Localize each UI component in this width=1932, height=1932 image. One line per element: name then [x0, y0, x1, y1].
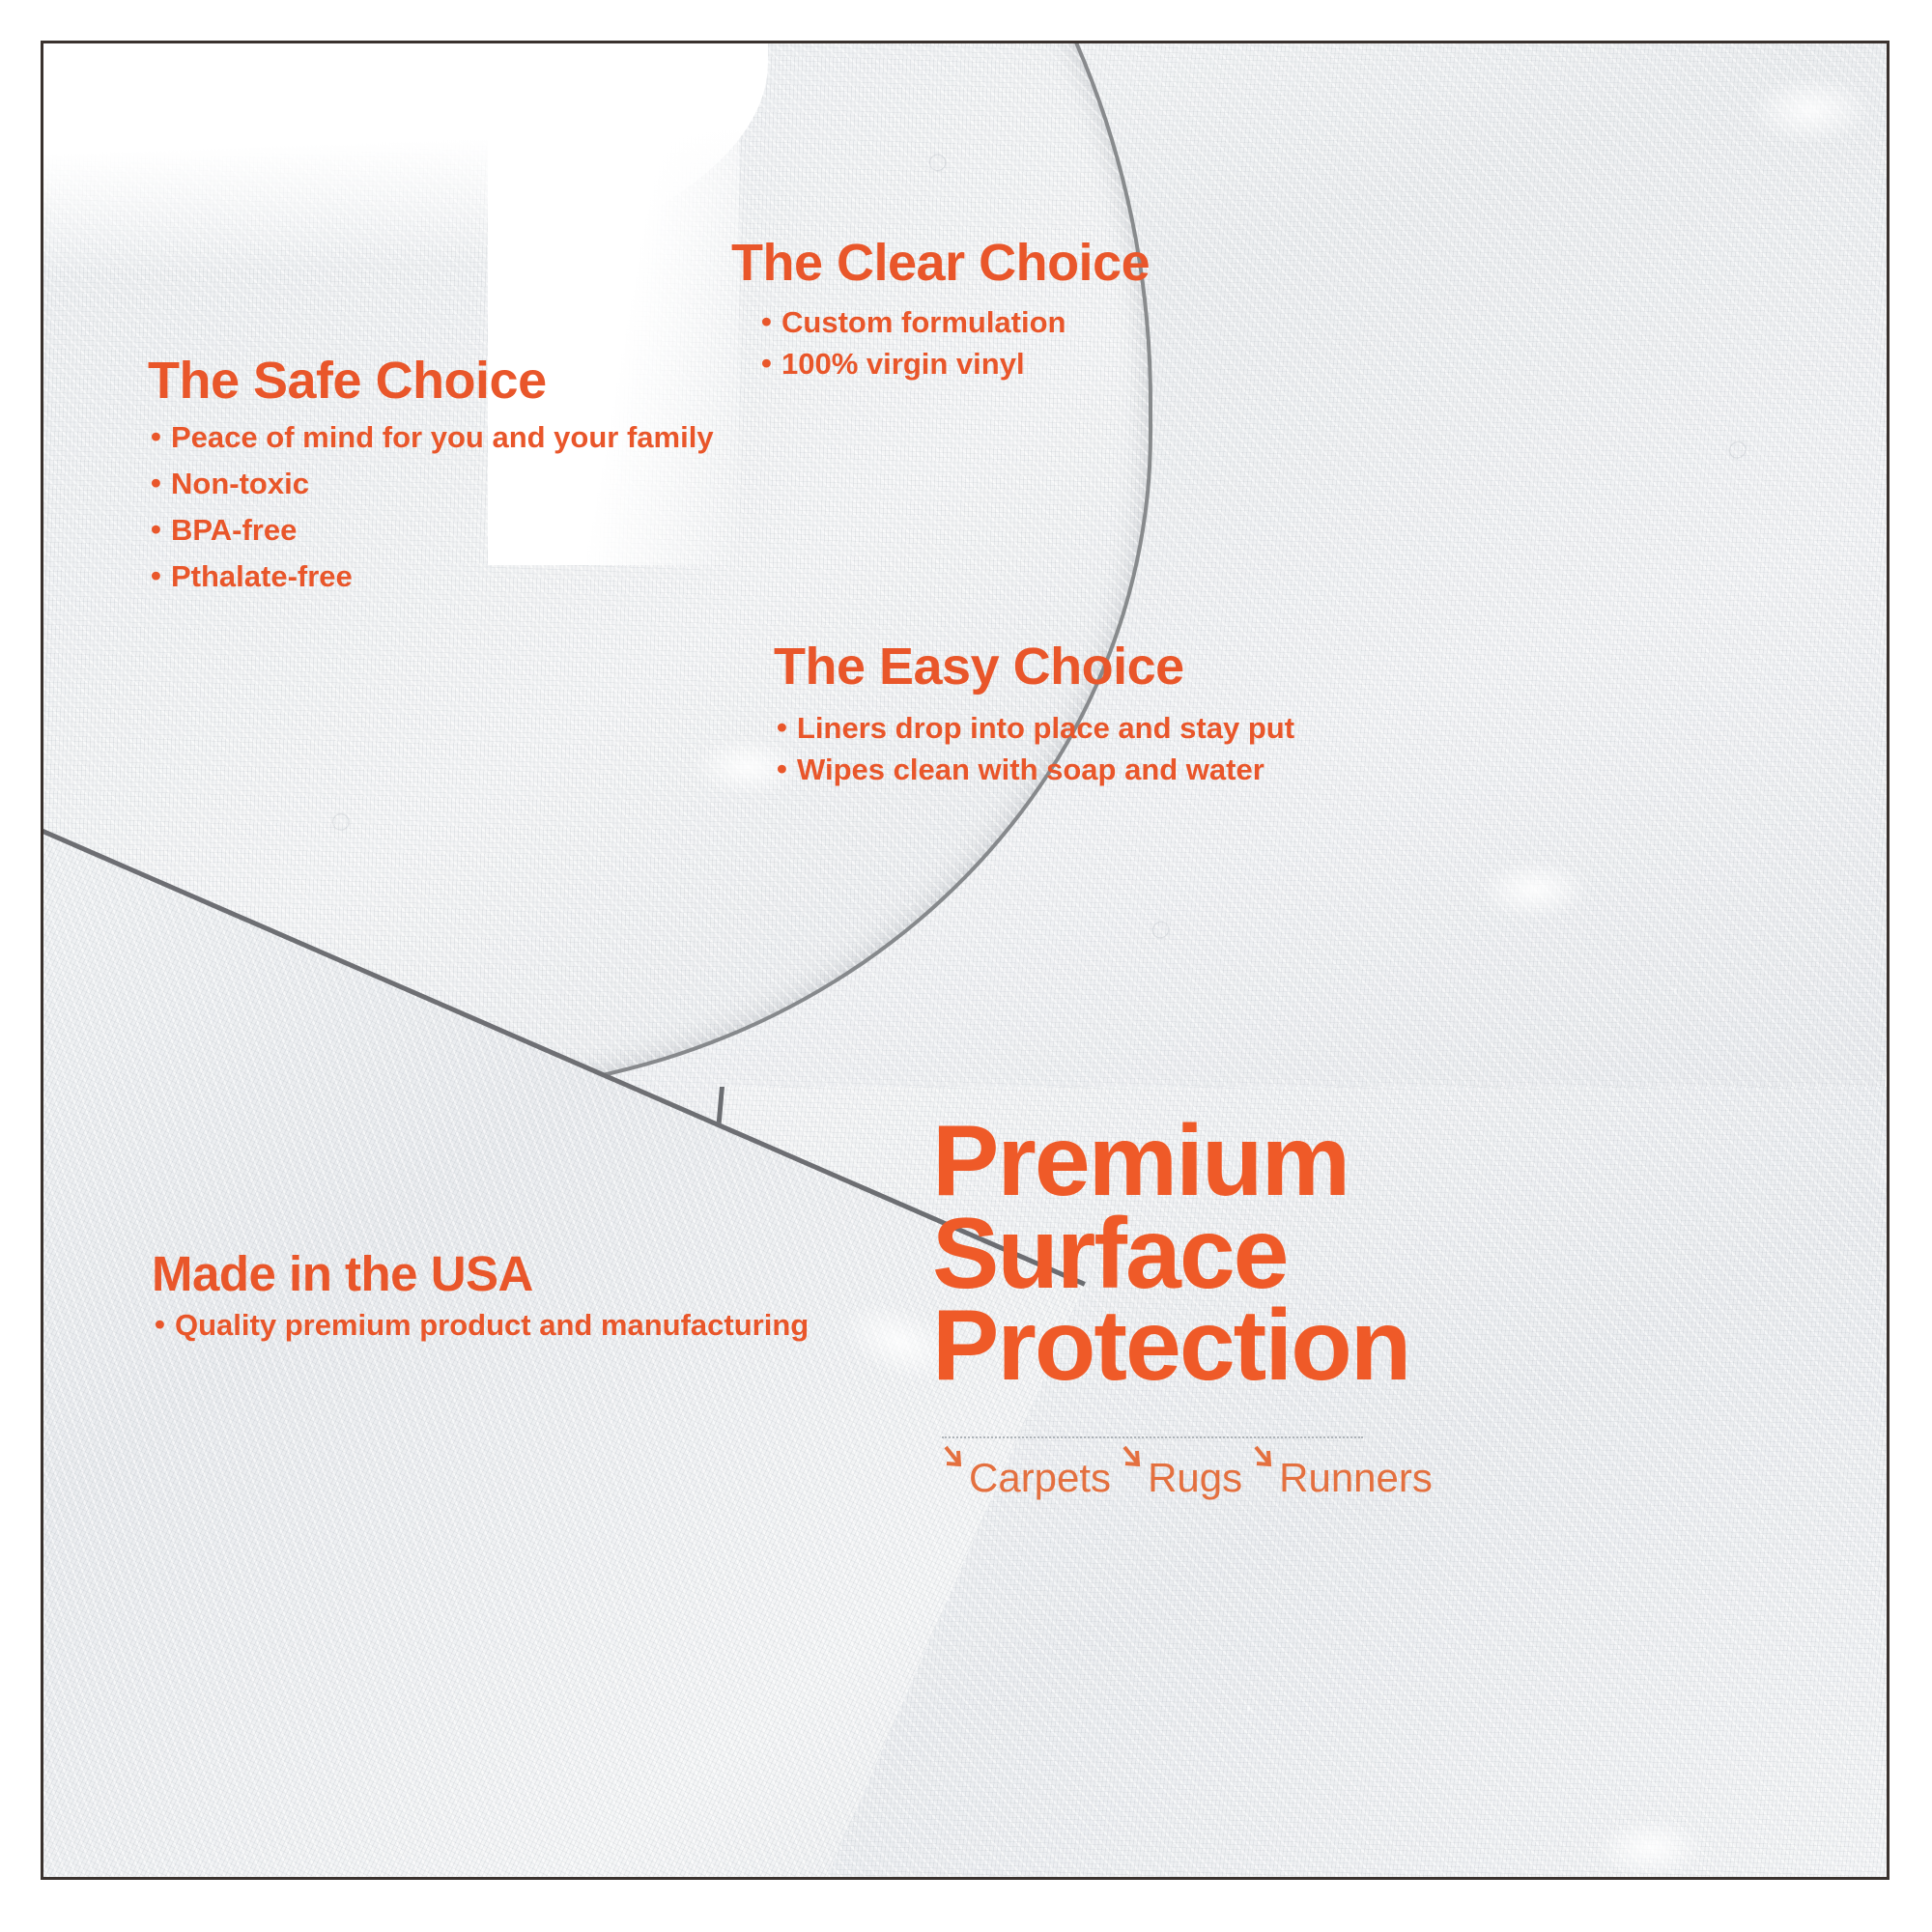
section-heading-made-in-usa: Made in the USA: [152, 1249, 809, 1299]
section-safe-choice: The Safe Choice Peace of mind for you an…: [148, 355, 714, 604]
section-made-in-usa: Made in the USA Quality premium product …: [152, 1249, 809, 1346]
footer-label-rugs: Rugs: [1148, 1444, 1242, 1498]
list-item: Non-toxic: [148, 466, 714, 502]
bullet-list-safe-choice: Peace of mind for you and your family No…: [148, 419, 714, 594]
section-heading-safe-choice: The Safe Choice: [148, 355, 714, 408]
product-wordmark: Premium Surface Protection: [932, 1116, 1473, 1393]
bordered-artwork-panel: The Safe Choice Peace of mind for you an…: [41, 41, 1889, 1880]
bullet-list-made-in-usa: Quality premium product and manufacturin…: [152, 1307, 809, 1343]
wordmark-line-surface: Surface: [932, 1208, 1473, 1301]
section-easy-choice: The Easy Choice Liners drop into place a…: [774, 640, 1294, 793]
footer-label-runners: Runners: [1279, 1444, 1433, 1498]
list-item: Liners drop into place and stay put: [774, 709, 1294, 748]
wordmark-line-premium: Premium: [932, 1116, 1473, 1208]
footer-item-runners: Runners: [1252, 1444, 1433, 1498]
list-item: Quality premium product and manufacturin…: [152, 1307, 809, 1343]
footer-item-list: Carpets Rugs: [942, 1444, 1406, 1498]
footer-product-categories: Carpets Rugs: [942, 1436, 1406, 1498]
bullet-list-clear-choice: Custom formulation 100% virgin vinyl: [731, 303, 1150, 384]
arrow-down-right-icon: [1121, 1444, 1146, 1473]
list-item: Peace of mind for you and your family: [148, 419, 714, 456]
section-clear-choice: The Clear Choice Custom formulation 100%…: [731, 237, 1150, 387]
list-item: 100% virgin vinyl: [758, 345, 1150, 384]
list-item: Pthalate-free: [148, 558, 714, 595]
footer-label-carpets: Carpets: [969, 1444, 1111, 1498]
section-heading-easy-choice: The Easy Choice: [774, 640, 1294, 694]
footer-item-rugs: Rugs: [1121, 1444, 1242, 1498]
arrow-down-right-icon: [1252, 1444, 1277, 1473]
bullet-list-easy-choice: Liners drop into place and stay put Wipe…: [774, 709, 1294, 790]
list-item: Wipes clean with soap and water: [774, 751, 1294, 789]
section-heading-clear-choice: The Clear Choice: [731, 237, 1150, 290]
list-item: Custom formulation: [758, 303, 1150, 342]
arrow-down-right-icon: [942, 1444, 967, 1473]
footer-dotted-divider: [942, 1436, 1363, 1438]
list-item: BPA-free: [148, 512, 714, 549]
footer-item-carpets: Carpets: [942, 1444, 1111, 1498]
wordmark-line-protection: Protection: [932, 1300, 1473, 1393]
marketing-copy-layer: The Safe Choice Peace of mind for you an…: [43, 43, 1887, 1877]
poster-canvas: The Safe Choice Peace of mind for you an…: [0, 0, 1932, 1932]
